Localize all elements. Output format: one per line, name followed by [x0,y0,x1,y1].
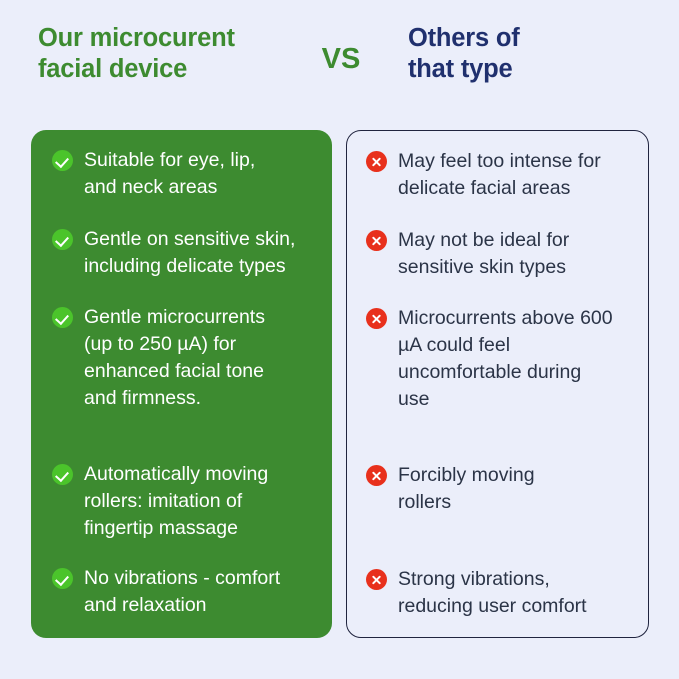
list-item: Microcurrents above 600 µA could feel un… [366,305,638,413]
list-item-label: No vibrations - comfort and relaxation [84,565,280,619]
list-item: Gentle on sensitive skin, including deli… [52,226,314,280]
cross-circle-icon [366,569,387,590]
comparison-infographic: Our microcurent facial device VS Others … [0,0,679,679]
list-item: Suitable for eye, lip, and neck areas [52,147,314,201]
list-item: Gentle microcurrents (up to 250 µA) for … [52,304,314,412]
pros-list: Suitable for eye, lip, and neck areas Ge… [31,130,332,638]
cross-circle-icon [366,308,387,329]
check-circle-icon [52,464,73,485]
cross-circle-icon [366,465,387,486]
list-item-label: Microcurrents above 600 µA could feel un… [398,305,613,413]
list-item-label: Automatically moving rollers: imitation … [84,461,268,542]
list-item-label: Suitable for eye, lip, and neck areas [84,147,255,201]
cons-panel: May feel too intense for delicate facial… [346,130,649,638]
list-item: Forcibly moving rollers [366,462,638,516]
list-item-label: May feel too intense for delicate facial… [398,148,601,202]
list-item: May not be ideal for sensitive skin type… [366,227,638,281]
cons-list: May feel too intense for delicate facial… [347,131,648,637]
check-circle-icon [52,307,73,328]
check-circle-icon [52,229,73,250]
list-item: No vibrations - comfort and relaxation [52,565,314,619]
list-item-label: Gentle microcurrents (up to 250 µA) for … [84,304,265,412]
list-item-label: Strong vibrations, reducing user comfort [398,566,587,620]
list-item: Strong vibrations, reducing user comfort [366,566,638,620]
panels-container: Suitable for eye, lip, and neck areas Ge… [0,0,679,679]
list-item-label: May not be ideal for sensitive skin type… [398,227,569,281]
check-circle-icon [52,568,73,589]
cross-circle-icon [366,151,387,172]
check-circle-icon [52,150,73,171]
list-item: May feel too intense for delicate facial… [366,148,638,202]
list-item: Automatically moving rollers: imitation … [52,461,314,542]
pros-panel: Suitable for eye, lip, and neck areas Ge… [31,130,332,638]
list-item-label: Forcibly moving rollers [398,462,535,516]
list-item-label: Gentle on sensitive skin, including deli… [84,226,295,280]
cross-circle-icon [366,230,387,251]
